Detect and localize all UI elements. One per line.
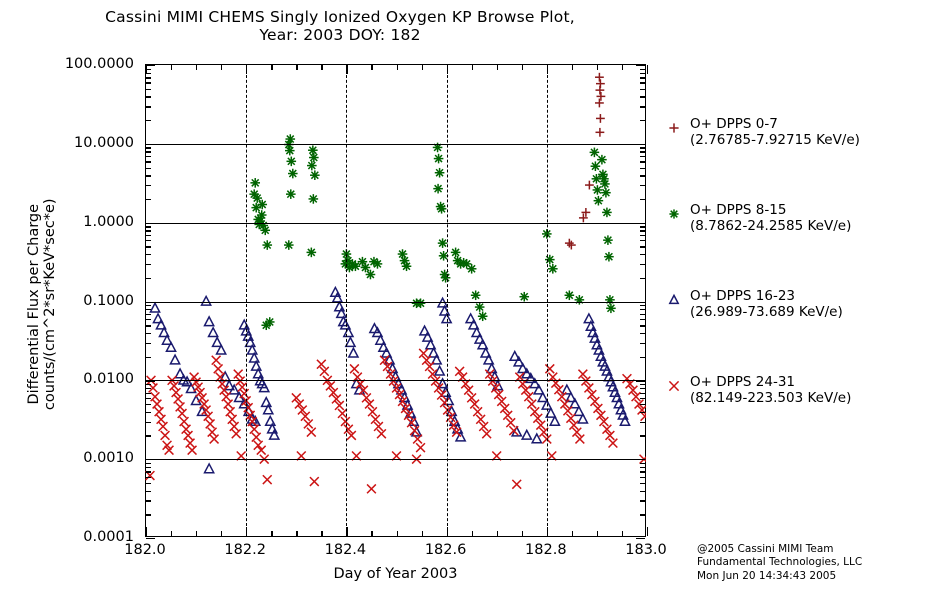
x-axis-minor-tick [271,65,272,70]
x-axis-tick [346,65,347,74]
y-axis-minor-tick [146,156,151,157]
x-axis-tick-label: 182.0 [124,542,166,558]
legend-entry-4[interactable]: O+ DPPS 24-31(82.149-223.503 KeV/e) [662,376,950,462]
y-axis-minor-tick [146,435,151,436]
legend: O+ DPPS 0-7(2.76785-7.92715 KeV/e)O+ DPP… [662,118,950,462]
y-axis-minor-tick [640,467,645,468]
y-axis-minor-tick [146,120,151,121]
legend-label-1: O+ DPPS 0-7(2.76785-7.92715 KeV/e) [690,116,860,148]
y-axis-minor-tick [640,309,645,310]
y-axis-minor-tick [146,82,151,83]
plus-icon [666,120,682,136]
y-axis-minor-tick [640,96,645,97]
y-axis-tick-label: 0.0100 [0,371,141,387]
y-axis-tick-label: 1.0000 [0,214,141,230]
y-axis-minor-tick [146,278,151,279]
y-axis-minor-tick [146,96,151,97]
y-axis-minor-tick [640,305,645,306]
y-axis-tick [636,144,645,145]
x-axis-tick-label: 183.0 [625,542,667,558]
y-axis-minor-tick [640,471,645,472]
x-axis-tick [647,527,648,536]
y-axis-minor-tick [640,185,645,186]
y-axis-minor-tick [640,477,645,478]
legend-entry-3[interactable]: O+ DPPS 16-23(26.989-73.689 KeV/e) [662,290,950,376]
x-axis-minor-tick [497,531,498,536]
x-axis-tick [447,65,448,74]
y-axis-minor-tick [640,175,645,176]
x-axis-minor-tick [572,65,573,70]
legend-entry-2[interactable]: O+ DPPS 8-15(8.7862-24.2585 KeV/e) [662,204,950,290]
x-axis-tick [547,65,548,74]
y-axis-minor-tick [146,467,151,468]
y-axis-minor-tick [640,314,645,315]
y-axis-tick [636,380,645,381]
y-axis-minor-tick [146,471,151,472]
y-axis-title-line-2: counts/(cm^2*sr*KeV*sec*e) [42,154,58,454]
y-axis-tick [636,459,645,460]
y-axis-minor-tick [640,435,645,436]
legend-series-range: (82.149-223.503 KeV/e) [690,390,851,406]
triangle-icon [666,292,682,308]
x-axis-minor-tick [296,531,297,536]
y-axis-minor-tick [640,156,645,157]
x-axis-minor-tick [597,531,598,536]
x-axis-minor-tick [221,531,222,536]
gridline-vertical-dashed [246,65,247,536]
y-axis-minor-tick [146,404,151,405]
y-axis-minor-tick [640,393,645,394]
legend-series-range: (2.76785-7.92715 KeV/e) [690,132,860,148]
y-axis-minor-tick [640,235,645,236]
gridline-horizontal [146,144,645,145]
gridline-horizontal [146,302,645,303]
x-axis-minor-tick [271,531,272,536]
y-axis-minor-tick [146,333,151,334]
x-axis-minor-tick [296,65,297,70]
x-axis-tick [146,65,147,74]
y-axis-minor-tick [640,254,645,255]
x-axis-minor-tick [196,65,197,70]
legend-label-3: O+ DPPS 16-23(26.989-73.689 KeV/e) [690,288,843,320]
y-axis-tick [636,223,645,224]
y-axis-minor-tick [640,246,645,247]
y-axis-tick [636,538,645,539]
legend-series-name: O+ DPPS 16-23 [690,288,843,304]
x-axis-tick [346,527,347,536]
x-axis-tick-labels: 182.0182.2182.4182.6182.8183.0 [145,542,646,564]
y-axis-minor-tick [640,199,645,200]
y-axis-minor-tick [640,333,645,334]
gridline-vertical-dashed [547,65,548,536]
x-axis-minor-tick [597,65,598,70]
y-axis-minor-tick [146,226,151,227]
y-axis-minor-tick [146,89,151,90]
y-axis-minor-tick [146,477,151,478]
gridline-horizontal [146,380,645,381]
y-axis-tick [146,302,155,303]
y-axis-minor-tick [640,230,645,231]
legend-label-2: O+ DPPS 8-15(8.7862-24.2585 KeV/e) [690,202,851,234]
y-axis-minor-tick [146,514,151,515]
data-points-layer [145,64,646,537]
y-axis-minor-tick [146,388,151,389]
y-axis-minor-tick [146,199,151,200]
y-axis-title-line-1: Differential Flux per Charge [26,154,42,454]
y-axis-minor-tick [640,240,645,241]
y-axis-minor-tick [146,254,151,255]
y-axis-minor-tick [640,69,645,70]
credit-line-2: Fundamental Technologies, LLC [697,556,862,569]
y-axis-minor-tick [146,393,151,394]
y-axis-minor-tick [146,384,151,385]
x-axis-tick [246,65,247,74]
legend-series-range: (26.989-73.689 KeV/e) [690,304,843,320]
title-line-2: Year: 2003 DOY: 182 [0,26,680,44]
y-axis-tick [146,223,155,224]
y-axis-tick-label: 0.1000 [0,293,141,309]
y-axis-minor-tick [640,343,645,344]
x-axis-minor-tick [171,531,172,536]
y-axis-minor-tick [640,73,645,74]
x-axis-minor-tick [472,65,473,70]
y-axis-minor-tick [146,309,151,310]
x-axis-minor-tick [397,65,398,70]
x-axis-minor-tick [321,65,322,70]
y-axis-tick-label: 0.0001 [0,529,141,545]
gridline-horizontal [146,459,645,460]
plot-area [145,64,646,537]
y-axis-minor-tick [146,151,151,152]
y-axis-minor-tick [640,483,645,484]
y-axis-minor-tick [640,514,645,515]
x-axis-tick-label: 182.6 [425,542,467,558]
y-axis-tick-labels: 100.000010.00001.00000.10000.01000.00100… [0,64,141,537]
x-axis-minor-tick [522,65,523,70]
legend-series-name: O+ DPPS 0-7 [690,116,860,132]
x-axis-tick-label: 182.8 [525,542,567,558]
y-axis-minor-tick [146,463,151,464]
gridline-vertical-dashed [346,65,347,536]
y-axis-minor-tick [640,120,645,121]
y-axis-minor-tick [146,305,151,306]
y-axis-minor-tick [146,314,151,315]
x-axis-tick [547,527,548,536]
y-axis-minor-tick [640,500,645,501]
y-axis-minor-tick [146,77,151,78]
y-axis-minor-tick [146,264,151,265]
y-axis-minor-tick [146,240,151,241]
x-axis-minor-tick [522,531,523,536]
y-axis-minor-tick [640,151,645,152]
y-axis-minor-tick [640,89,645,90]
y-axis-minor-tick [640,226,645,227]
x-axis-tick-label: 182.2 [224,542,266,558]
y-axis-minor-tick [640,491,645,492]
y-axis-tick [146,144,155,145]
legend-series-name: O+ DPPS 24-31 [690,374,851,390]
x-axis-minor-tick [371,531,372,536]
y-axis-minor-tick [640,325,645,326]
x-axis-minor-tick [422,65,423,70]
y-axis-minor-tick [146,398,151,399]
x-axis-minor-tick [321,531,322,536]
y-axis-minor-tick [146,491,151,492]
y-axis-minor-tick [146,161,151,162]
y-axis-tick-label: 0.0010 [0,450,141,466]
y-axis-tick [146,380,155,381]
y-axis-minor-tick [640,319,645,320]
y-axis-minor-tick [640,77,645,78]
y-axis-minor-tick [146,147,151,148]
y-axis-minor-tick [146,357,151,358]
y-axis-minor-tick [146,343,151,344]
legend-entry-1[interactable]: O+ DPPS 0-7(2.76785-7.92715 KeV/e) [662,118,950,204]
y-axis-tick [146,459,155,460]
y-axis-minor-tick [640,463,645,464]
x-axis-minor-tick [622,531,623,536]
x-axis-tick [246,527,247,536]
x-axis-tick [647,65,648,74]
y-axis-minor-tick [640,161,645,162]
y-axis-minor-tick [640,398,645,399]
credit-line-3: Mon Jun 20 14:34:43 2005 [697,570,862,583]
cross-icon [666,378,682,394]
legend-label-4: O+ DPPS 24-31(82.149-223.503 KeV/e) [690,374,851,406]
y-axis-minor-tick [146,325,151,326]
gridline-horizontal [146,223,645,224]
y-axis-minor-tick [640,404,645,405]
y-axis-minor-tick [640,82,645,83]
y-axis-minor-tick [640,422,645,423]
y-axis-minor-tick [146,230,151,231]
y-axis-title: Differential Flux per Charge counts/(cm^… [26,154,58,454]
gridline-vertical-dashed [447,65,448,536]
legend-series-range: (8.7862-24.2585 KeV/e) [690,218,851,234]
y-axis-tick [146,65,155,66]
x-axis-minor-tick [221,65,222,70]
y-axis-minor-tick [146,168,151,169]
x-axis-minor-tick [171,65,172,70]
x-axis-minor-tick [196,531,197,536]
y-axis-minor-tick [640,168,645,169]
y-axis-minor-tick [146,106,151,107]
y-axis-minor-tick [146,422,151,423]
y-axis-minor-tick [640,388,645,389]
y-axis-minor-tick [640,278,645,279]
x-axis-tick [447,527,448,536]
x-axis-minor-tick [472,531,473,536]
x-axis-minor-tick [497,65,498,70]
y-axis-tick [636,65,645,66]
y-axis-tick [636,302,645,303]
y-axis-minor-tick [146,175,151,176]
y-axis-minor-tick [146,412,151,413]
y-axis-tick-label: 10.0000 [0,135,141,151]
y-axis-minor-tick [146,319,151,320]
y-axis-tick [146,538,155,539]
x-axis-minor-tick [622,65,623,70]
legend-series-name: O+ DPPS 8-15 [690,202,851,218]
y-axis-minor-tick [640,147,645,148]
x-axis-title: Day of Year 2003 [145,566,646,582]
y-axis-tick-label: 100.0000 [0,56,141,72]
y-axis-minor-tick [640,264,645,265]
y-axis-minor-tick [640,106,645,107]
title-line-1: Cassini MIMI CHEMS Singly Ionized Oxygen… [0,8,680,26]
x-axis-minor-tick [422,531,423,536]
y-axis-minor-tick [640,357,645,358]
x-axis-tick-label: 182.4 [325,542,367,558]
y-axis-minor-tick [146,500,151,501]
x-axis-minor-tick [371,65,372,70]
asterisk-icon [666,206,682,222]
y-axis-minor-tick [640,412,645,413]
page-title: Cassini MIMI CHEMS Singly Ionized Oxygen… [0,8,680,45]
y-axis-minor-tick [640,384,645,385]
x-axis-minor-tick [572,531,573,536]
credit-block: @2005 Cassini MIMI Team Fundamental Tech… [697,543,862,583]
y-axis-minor-tick [146,483,151,484]
y-axis-minor-tick [146,235,151,236]
credit-line-1: @2005 Cassini MIMI Team [697,543,862,556]
y-axis-minor-tick [146,185,151,186]
y-axis-minor-tick [146,246,151,247]
x-axis-minor-tick [397,531,398,536]
x-axis-tick [146,527,147,536]
